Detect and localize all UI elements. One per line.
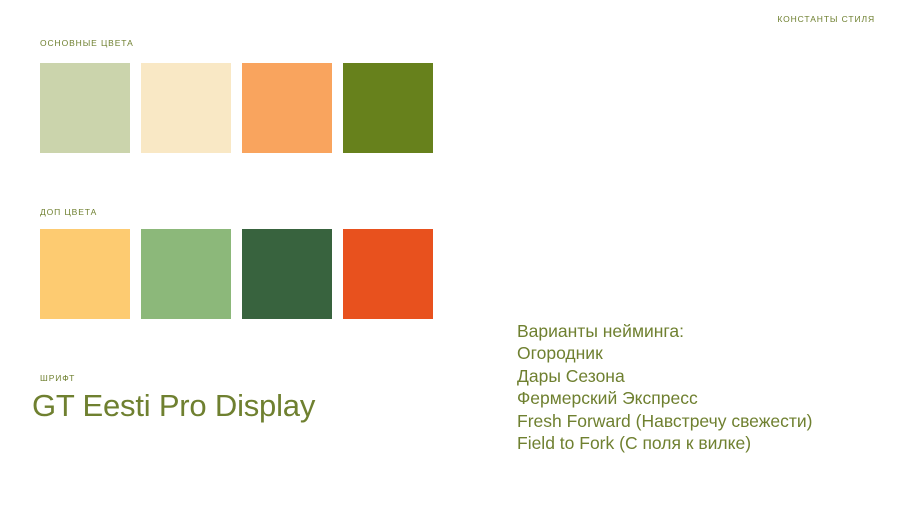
color-swatch-medium-green (141, 229, 231, 319)
color-swatch-cream (141, 63, 231, 153)
color-swatch-orange (242, 63, 332, 153)
naming-option: Огородник (517, 342, 813, 364)
naming-heading: Варианты нейминга: (517, 320, 813, 342)
naming-option: Field to Fork (С поля к вилке) (517, 432, 813, 454)
color-swatch-sage-green (40, 63, 130, 153)
color-swatch-olive-green (343, 63, 433, 153)
color-swatch-forest-green (242, 229, 332, 319)
naming-options-block: Варианты нейминга: Огородник Дары Сезона… (517, 320, 813, 454)
naming-option: Fresh Forward (Навстречу свежести) (517, 410, 813, 432)
color-swatch-red-orange (343, 229, 433, 319)
primary-colors-row (40, 63, 433, 153)
page-title: КОНСТАНТЫ СТИЛЯ (777, 14, 875, 24)
naming-option: Дары Сезона (517, 365, 813, 387)
font-name: GT Eesti Pro Display (32, 388, 315, 424)
font-label: ШРИФТ (40, 373, 75, 383)
color-swatch-golden-yellow (40, 229, 130, 319)
extra-colors-row (40, 229, 433, 319)
extra-colors-label: ДОП ЦВЕТА (40, 207, 97, 217)
style-guide-board: КОНСТАНТЫ СТИЛЯ ОСНОВНЫЕ ЦВЕТА ДОП ЦВЕТА… (0, 0, 900, 506)
naming-option: Фермерский Экспресс (517, 387, 813, 409)
primary-colors-label: ОСНОВНЫЕ ЦВЕТА (40, 38, 134, 48)
